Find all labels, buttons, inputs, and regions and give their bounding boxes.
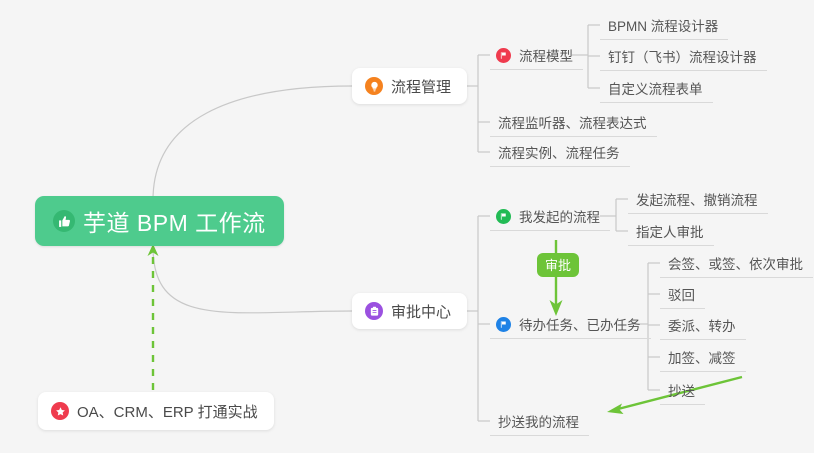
annotation-arrow-approve-to-todo — [550, 240, 563, 316]
branch-label: 流程管理 — [391, 76, 451, 97]
link-root-to-process-mgmt — [153, 86, 352, 200]
annotation-arrow-footer-to-root — [148, 244, 159, 390]
footer-node-label: OA、CRM、ERP 打通实战 — [77, 401, 258, 422]
node-process-instance-task[interactable]: 流程实例、流程任务 — [490, 138, 630, 167]
node-dingtalk-feishu-designer[interactable]: 钉钉（飞书）流程设计器 — [600, 42, 767, 71]
node-label: 驳回 — [668, 284, 695, 304]
clipboard-icon — [365, 302, 383, 320]
node-label: 流程模型 — [519, 45, 573, 65]
node-start-cancel-flow[interactable]: 发起流程、撤销流程 — [628, 185, 768, 214]
node-label: 自定义流程表单 — [608, 78, 703, 98]
node-label: 待办任务、已办任务 — [519, 314, 641, 334]
node-label: 流程实例、流程任务 — [498, 142, 620, 162]
node-countersign-approval[interactable]: 会签、或签、依次审批 — [660, 249, 813, 278]
node-reject[interactable]: 驳回 — [660, 280, 705, 309]
branch-label: 审批中心 — [391, 301, 451, 322]
flag-icon — [496, 48, 511, 63]
node-delegate-transfer[interactable]: 委派、转办 — [660, 311, 746, 340]
lightbulb-icon — [365, 77, 383, 95]
link-root-to-approval-center — [153, 247, 352, 313]
node-label: 抄送我的流程 — [498, 411, 579, 431]
node-label: 流程监听器、流程表达式 — [498, 112, 647, 132]
node-label: BPMN 流程设计器 — [608, 15, 718, 35]
flag-icon — [496, 317, 511, 332]
node-process-listener-expression[interactable]: 流程监听器、流程表达式 — [490, 108, 657, 137]
node-label: 发起流程、撤销流程 — [636, 189, 758, 209]
branch-node-process-management[interactable]: 流程管理 — [352, 68, 467, 104]
node-assigned-approval[interactable]: 指定人审批 — [628, 217, 714, 246]
node-custom-process-form[interactable]: 自定义流程表单 — [600, 74, 713, 103]
footer-node-oa-crm-erp[interactable]: OA、CRM、ERP 打通实战 — [38, 392, 274, 430]
node-cc-to-me-flows[interactable]: 抄送我的流程 — [490, 407, 589, 436]
node-todo-done-tasks[interactable]: 待办任务、已办任务 — [490, 310, 651, 339]
approve-badge: 审批 — [537, 253, 579, 277]
node-label: 我发起的流程 — [519, 206, 600, 226]
approve-badge-label: 审批 — [545, 259, 571, 272]
thumbs-up-icon — [53, 210, 75, 232]
node-label: 委派、转办 — [668, 315, 736, 335]
star-icon — [51, 402, 69, 420]
flag-icon — [496, 209, 511, 224]
node-my-initiated-flows[interactable]: 我发起的流程 — [490, 202, 610, 231]
root-node[interactable]: 芋道 BPM 工作流 — [35, 196, 284, 246]
branch-node-approval-center[interactable]: 审批中心 — [352, 293, 467, 329]
node-process-model[interactable]: 流程模型 — [490, 41, 583, 70]
node-bpmn-designer[interactable]: BPMN 流程设计器 — [600, 11, 728, 40]
node-carbon-copy[interactable]: 抄送 — [660, 376, 705, 405]
node-label: 指定人审批 — [636, 221, 704, 241]
node-label: 抄送 — [668, 380, 695, 400]
node-label: 会签、或签、依次审批 — [668, 253, 803, 273]
node-label: 钉钉（飞书）流程设计器 — [608, 46, 757, 66]
node-add-remove-sign[interactable]: 加签、减签 — [660, 343, 746, 372]
root-label: 芋道 BPM 工作流 — [83, 204, 266, 238]
mindmap-canvas: 芋道 BPM 工作流 流程管理 流程模型 BPMN 流程设计器 钉钉（飞书）流程… — [0, 0, 814, 453]
node-label: 加签、减签 — [668, 347, 736, 367]
